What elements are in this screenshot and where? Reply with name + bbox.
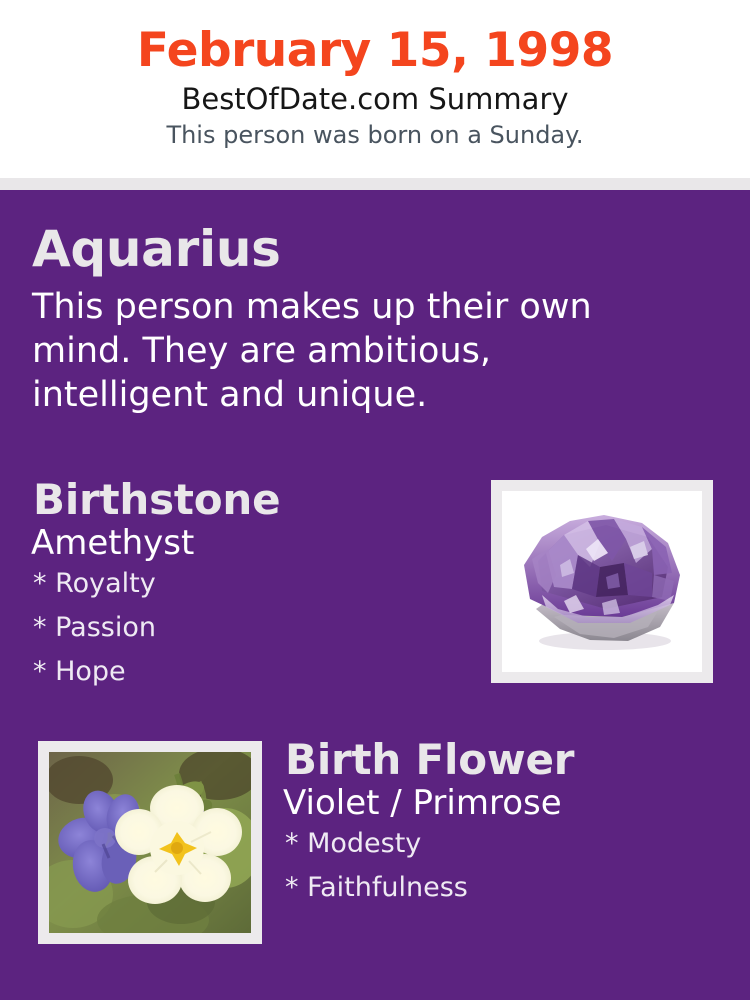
infographic-page: February 15, 1998 BestOfDate.com Summary… bbox=[0, 0, 750, 1000]
birth-flower-photo bbox=[49, 752, 251, 933]
birthstone-name: Amethyst bbox=[31, 522, 473, 563]
header: February 15, 1998 BestOfDate.com Summary… bbox=[0, 0, 750, 178]
born-day-subtitle: This person was born on a Sunday. bbox=[0, 116, 750, 148]
zodiac-sign-title: Aquarius bbox=[32, 223, 692, 276]
header-divider bbox=[0, 178, 750, 190]
list-item: * Hope bbox=[33, 658, 473, 702]
birthstone-section: Birthstone Amethyst * Royalty * Passion … bbox=[33, 477, 473, 702]
amethyst-crystal-cluster-icon bbox=[502, 491, 702, 672]
birth-flower-photo-frame bbox=[38, 741, 262, 944]
birth-flower-heading: Birth Flower bbox=[285, 737, 735, 782]
birthstone-trait-list: * Royalty * Passion * Hope bbox=[33, 563, 473, 702]
birthstone-photo bbox=[502, 491, 702, 672]
birth-flower-name: Violet / Primrose bbox=[283, 782, 735, 823]
violet-and-primrose-flowers-icon bbox=[49, 752, 251, 933]
site-name-summary: BestOfDate.com Summary bbox=[0, 77, 750, 116]
birthstone-photo-frame bbox=[491, 480, 713, 683]
birth-flower-trait-list: * Modesty * Faithfulness bbox=[285, 823, 735, 918]
birthstone-heading: Birthstone bbox=[33, 477, 473, 522]
list-item: * Faithfulness bbox=[285, 874, 735, 918]
list-item: * Modesty bbox=[285, 830, 735, 874]
zodiac-description: This person makes up their own mind. The… bbox=[32, 276, 672, 418]
list-item: * Passion bbox=[33, 614, 473, 658]
page-title-date: February 15, 1998 bbox=[0, 0, 750, 77]
birth-flower-section: Birth Flower Violet / Primrose * Modesty… bbox=[285, 737, 735, 918]
list-item: * Royalty bbox=[33, 570, 473, 614]
zodiac-section: Aquarius This person makes up their own … bbox=[32, 223, 692, 418]
